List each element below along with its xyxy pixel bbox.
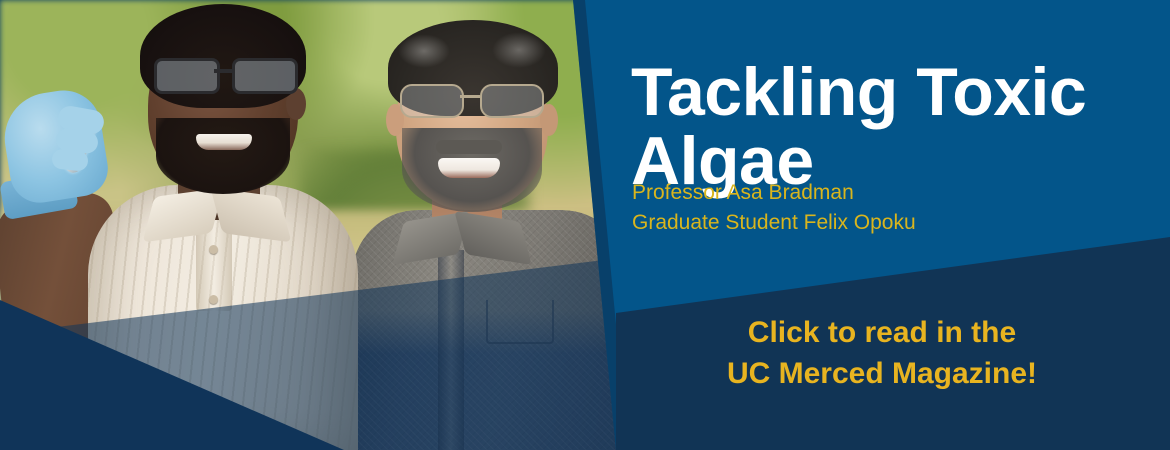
page-title: Tackling Toxic Algae xyxy=(631,58,1101,197)
student-polo-button-top xyxy=(209,245,218,254)
professor-mustache xyxy=(436,140,502,154)
credit-graduate-student: Graduate Student Felix Opoku xyxy=(632,208,1112,238)
cta-line-1: Click to read in the xyxy=(632,312,1132,353)
professor-lens-bridge xyxy=(460,95,480,98)
professor-hair-gray-right xyxy=(492,32,546,68)
professor-smile xyxy=(438,158,500,178)
professor-hair-gray-left xyxy=(398,34,450,68)
student-polo-button-bottom xyxy=(209,295,218,304)
student-beard xyxy=(156,118,290,194)
credit-professor: Professor Asa Bradman xyxy=(632,178,1112,208)
professor-lens-right xyxy=(480,84,544,118)
call-to-action-link[interactable]: Click to read in the UC Merced Magazine! xyxy=(632,312,1132,395)
professor-lens-left xyxy=(400,84,464,118)
professor-eyeglasses xyxy=(400,84,546,114)
student-lens-bridge xyxy=(214,69,232,73)
credits-block: Professor Asa Bradman Graduate Student F… xyxy=(632,178,1112,239)
cta-line-2: UC Merced Magazine! xyxy=(632,353,1132,394)
student-safety-glasses xyxy=(154,58,300,88)
student-lens-left xyxy=(154,58,220,94)
student-smile xyxy=(196,134,252,150)
student-lens-right xyxy=(232,58,298,94)
promo-banner[interactable]: Tackling Toxic Algae Professor Asa Bradm… xyxy=(0,0,1170,450)
